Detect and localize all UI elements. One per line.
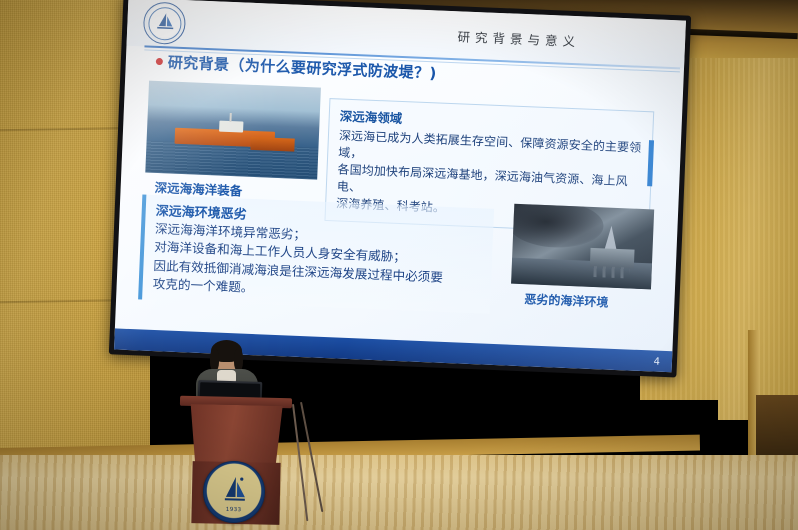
photo-harsh-ocean bbox=[511, 204, 654, 290]
photo-offshore-equipment bbox=[145, 81, 321, 180]
floor bbox=[0, 455, 798, 530]
text-box-lower: 深远海环境恶劣 深远海海洋环境异常恶劣； 对海洋设备和海上工作人员人身安全有威胁… bbox=[138, 194, 494, 313]
sailboat-icon bbox=[156, 12, 175, 33]
sailboat-icon bbox=[223, 476, 248, 506]
podium-seal-year: 1933 bbox=[204, 506, 264, 513]
slide-canvas: 研究背景与意义 研究背景（为什么要研究浮式防波堤？) 深远海海洋装备 bbox=[114, 0, 686, 372]
presenter-hair-side bbox=[210, 349, 219, 371]
platform-mast bbox=[229, 113, 231, 122]
rig-derrick bbox=[605, 225, 618, 249]
presentation-screen[interactable]: 研究背景与意义 研究背景（为什么要研究浮式防波堤？) 深远海海洋装备 bbox=[109, 0, 691, 377]
bullet-dot-icon bbox=[156, 58, 163, 65]
right-photo-caption: 恶劣的海洋环境 bbox=[524, 290, 609, 310]
doorway bbox=[756, 395, 798, 460]
platform-deckhouse bbox=[219, 121, 243, 133]
screen-bezel: 研究背景与意义 研究背景（为什么要研究浮式防波堤？) 深远海海洋装备 bbox=[109, 0, 691, 377]
presenter-hair-side bbox=[234, 349, 243, 371]
platform-hull-secondary bbox=[250, 137, 294, 152]
podium-body bbox=[185, 404, 286, 468]
rig-legs bbox=[593, 266, 629, 278]
slide-number: 4 bbox=[653, 357, 660, 368]
storm-cloud bbox=[511, 204, 604, 250]
blue-accent-tab bbox=[647, 140, 654, 186]
conference-hall-scene: 研究背景与意义 研究背景（为什么要研究浮式防波堤？) 深远海海洋装备 bbox=[0, 0, 798, 530]
